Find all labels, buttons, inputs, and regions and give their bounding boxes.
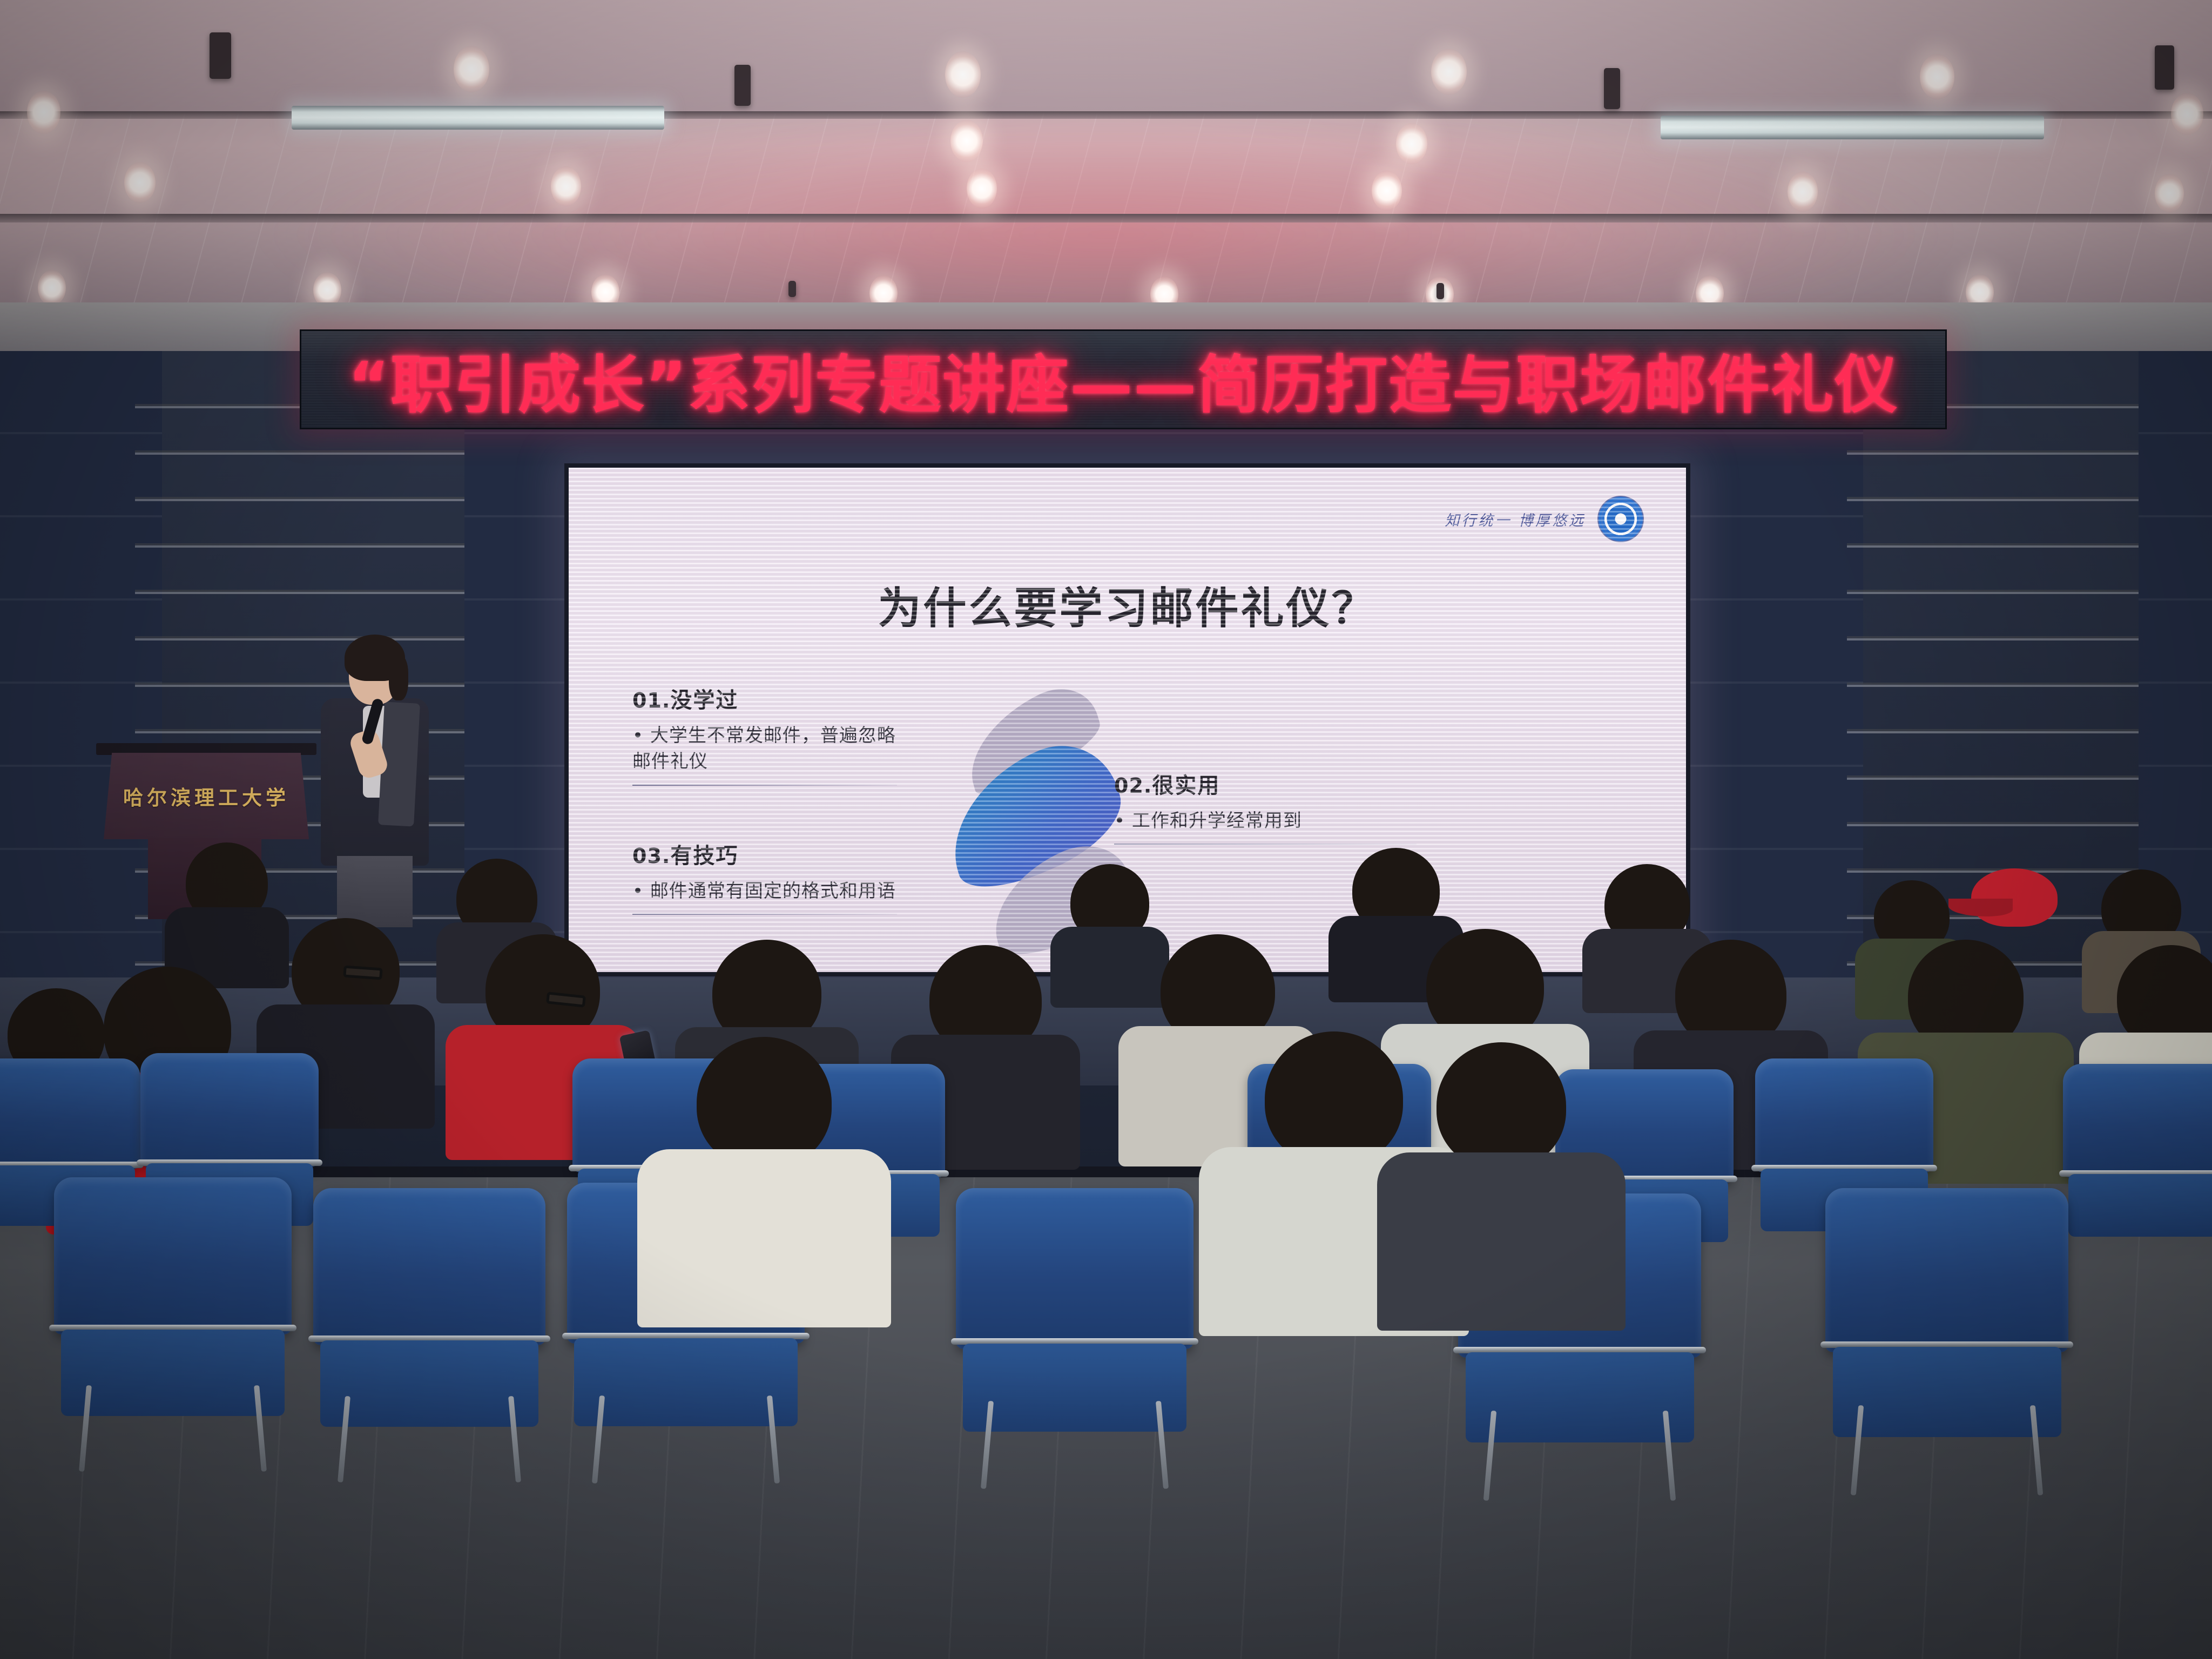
downlight <box>1431 49 1467 95</box>
slide-title: 为什么要学习邮件礼仪？ <box>878 574 1377 636</box>
slide-point-01-number: 01. <box>632 689 670 712</box>
downlight <box>945 51 981 98</box>
ceiling <box>0 0 2212 324</box>
ceiling-sprinkler <box>1437 283 1444 299</box>
audience-member <box>178 842 275 967</box>
audience-area <box>0 832 2212 1659</box>
led-banner: “职引成长”系列专题讲座——简历打造与职场邮件礼仪 <box>300 329 1947 429</box>
downlight <box>38 270 66 306</box>
downlight <box>1788 172 1818 212</box>
downlight <box>967 168 997 208</box>
slide-point-02-bullet: • 工作和升学经常用到 <box>1114 808 1417 834</box>
chair[interactable] <box>956 1188 1193 1447</box>
fluorescent-tube-light <box>292 106 664 130</box>
ceiling-sprinkler <box>788 281 796 297</box>
downlight <box>27 91 60 134</box>
chair-back <box>313 1188 545 1345</box>
chair-seat <box>1833 1347 2061 1437</box>
slide-point-02-title: 很实用 <box>1152 773 1220 798</box>
chair-seat <box>1466 1352 1694 1442</box>
podium-front-panel: 哈尔滨理工大学 <box>104 753 309 839</box>
chair-seat <box>2068 1174 2212 1237</box>
chair-back <box>1825 1188 2068 1352</box>
chair-back <box>956 1188 1193 1349</box>
chair-back <box>1755 1058 1933 1172</box>
chair-back <box>54 1177 292 1334</box>
downlight <box>2155 174 2184 213</box>
logo-motto-text: 知行统一 博厚悠远 <box>1445 509 1586 530</box>
podium-university-name: 哈尔滨理工大学 <box>123 781 289 811</box>
downlight <box>124 162 156 203</box>
downlight <box>2171 93 2203 135</box>
ceiling-rail-2 <box>0 214 2212 222</box>
torso <box>637 1149 891 1327</box>
slide-point-01: 01.没学过 • 大学生不常发邮件，普遍忽略邮件礼仪 <box>632 683 897 786</box>
ceiling-band-upper <box>0 0 2212 113</box>
chair-back <box>0 1058 140 1169</box>
audience-member <box>1415 1042 1588 1269</box>
chair[interactable] <box>1825 1188 2068 1453</box>
ceiling-speaker <box>1604 68 1620 109</box>
chair-seat <box>574 1338 798 1426</box>
fluorescent-tube-light <box>1661 116 2044 139</box>
university-seal-icon <box>1597 496 1644 542</box>
slide-point-01-title: 没学过 <box>670 688 738 713</box>
torso <box>1377 1152 1626 1331</box>
audience-member <box>1064 864 1156 977</box>
slide-point-01-heading: 01.没学过 <box>632 683 897 714</box>
downlight <box>950 120 983 162</box>
lecture-hall-photo: “职引成长”系列专题讲座——简历打造与职场邮件礼仪 知行统一 博厚悠远 为什么要… <box>0 0 2212 1659</box>
downlight <box>551 166 581 206</box>
downlight <box>1372 171 1402 211</box>
red-baseball-cap <box>1971 868 2058 927</box>
head <box>1437 1042 1566 1170</box>
chair-seat <box>61 1330 285 1416</box>
downlight <box>454 46 489 92</box>
ceiling-speaker <box>2155 45 2174 90</box>
chair[interactable] <box>54 1177 292 1431</box>
led-banner-text: “职引成长”系列专题讲座——简历打造与职场邮件礼仪 <box>348 334 1898 425</box>
slide-point-02-heading: 02.很实用 <box>1114 768 1417 799</box>
presenter-hair-side <box>389 655 408 700</box>
downlight <box>1396 123 1427 164</box>
chair[interactable] <box>313 1188 545 1442</box>
chair-seat <box>963 1344 1186 1432</box>
downlight <box>1920 54 1954 99</box>
chair-back <box>140 1053 319 1167</box>
chair-seat <box>320 1340 538 1427</box>
slide-point-01-bullet: • 大学生不常发邮件，普遍忽略邮件礼仪 <box>632 723 897 775</box>
head <box>1265 1031 1403 1166</box>
chair[interactable] <box>2063 1064 2212 1247</box>
slide-point-01-rule <box>632 785 897 786</box>
audience-member <box>675 1037 853 1264</box>
ceiling-speaker <box>210 32 231 79</box>
ceiling-speaker <box>734 65 751 106</box>
slide-point-02-number: 02. <box>1114 774 1152 798</box>
chair-back <box>2063 1064 2212 1178</box>
slide-logo-group: 知行统一 博厚悠远 <box>1445 496 1644 542</box>
